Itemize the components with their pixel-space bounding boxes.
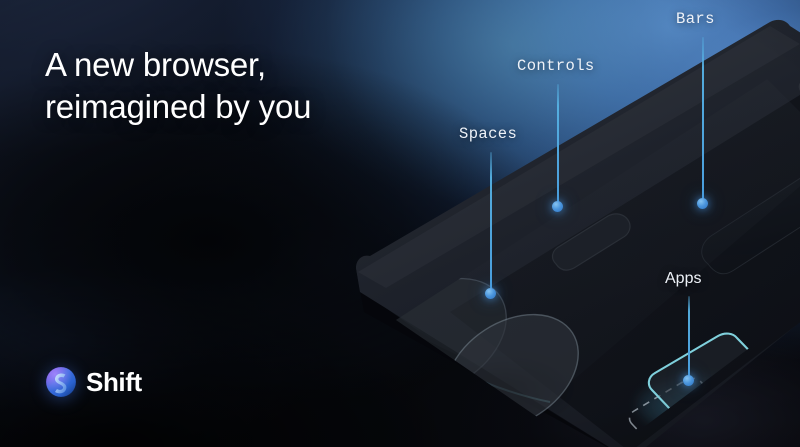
hero-banner: A new browser, reimagined by you Bars Co… — [0, 0, 800, 447]
page-title: A new browser, reimagined by you — [45, 44, 311, 127]
brand-logo[interactable]: Shift — [45, 366, 142, 398]
callout-bars-leader-line — [702, 37, 704, 203]
callout-bars-label: Bars — [676, 10, 715, 28]
callout-controls-label: Controls — [517, 57, 595, 75]
callout-bars-endpoint-dot — [697, 198, 708, 209]
brand-wordmark: Shift — [86, 367, 142, 398]
callout-apps-leader-line — [688, 296, 690, 380]
callout-spaces-leader-line — [490, 152, 492, 293]
callout-apps-endpoint-dot — [683, 375, 694, 386]
callout-controls-endpoint-dot — [552, 201, 563, 212]
shift-swirl-logo-icon — [45, 366, 77, 398]
callout-apps-label: Apps — [665, 270, 701, 288]
callout-controls-leader-line — [557, 84, 559, 206]
callout-spaces-label: Spaces — [459, 125, 517, 143]
callout-spaces-endpoint-dot — [485, 288, 496, 299]
